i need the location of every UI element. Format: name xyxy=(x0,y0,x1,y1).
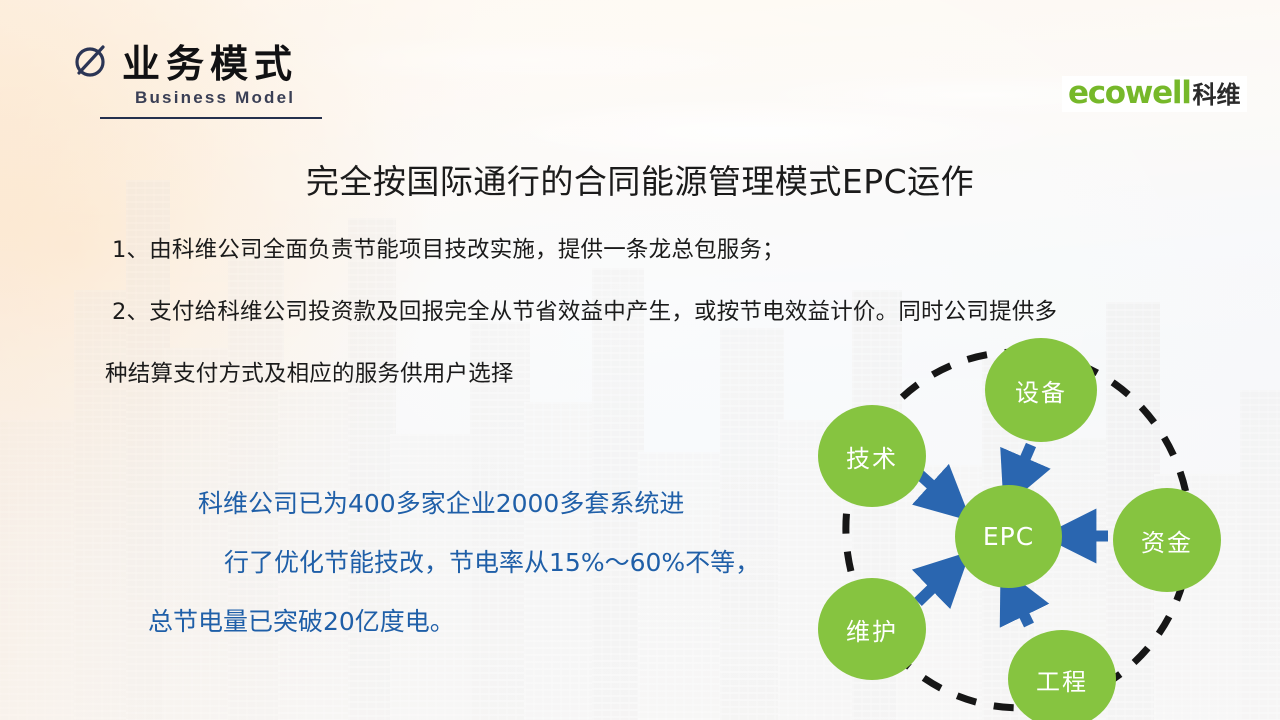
arrow-eng-to-epc xyxy=(1013,592,1029,625)
epc-cycle-diagram: 技术 设备 资金 工程 维护 EPC xyxy=(800,330,1240,720)
diagram-node-fund[interactable]: 资金 xyxy=(1113,488,1221,592)
diagram-node-equip[interactable]: 设备 xyxy=(985,338,1097,442)
highlight-line-3: 总节电量已突破20亿度电。 xyxy=(148,592,760,651)
body-point-2: 2、支付给科维公司投资款及回报完全从节省效益中产生，或按节电效益计价。同时公司提… xyxy=(112,298,1272,327)
arrow-tech-to-epc xyxy=(918,473,950,502)
page-title: 业务模式 xyxy=(122,33,298,88)
highlight-block: 科维公司已为400多家企业2000多套系统进 行了优化节能技改，节电率从15%～… xyxy=(198,474,760,651)
arrow-equip-to-epc xyxy=(1015,445,1031,482)
slashed-circle-icon xyxy=(70,40,112,82)
diagram-node-epc-center[interactable]: EPC xyxy=(955,485,1062,588)
highlight-line-2: 行了优化节能技改，节电率从15%～60%不等， xyxy=(198,533,760,592)
slide-headline: 完全按国际通行的合同能源管理模式EPC运作 xyxy=(0,155,1280,203)
diagram-node-maint[interactable]: 维护 xyxy=(818,578,926,680)
slide-canvas: 业务模式 Business Model ecowell 科维 完全按国际通行的合… xyxy=(0,0,1280,720)
highlight-line-1: 科维公司已为400多家企业2000多套系统进 xyxy=(198,474,760,533)
diagram-node-eng[interactable]: 工程 xyxy=(1008,630,1116,720)
brand-logo: ecowell 科维 xyxy=(1062,76,1247,112)
page-subtitle: Business Model xyxy=(135,88,295,108)
header-divider xyxy=(100,117,322,119)
body-point-2-cont: 种结算支付方式及相应的服务供用户选择 xyxy=(105,360,514,389)
brand-logo-chinese: 科维 xyxy=(1193,83,1241,107)
arrow-maint-to-epc xyxy=(918,571,950,602)
diagram-node-tech[interactable]: 技术 xyxy=(818,405,926,507)
body-point-1: 1、由科维公司全面负责节能项目技改实施，提供一条龙总包服务； xyxy=(112,236,785,265)
brand-logo-latin: ecowell xyxy=(1068,78,1191,109)
